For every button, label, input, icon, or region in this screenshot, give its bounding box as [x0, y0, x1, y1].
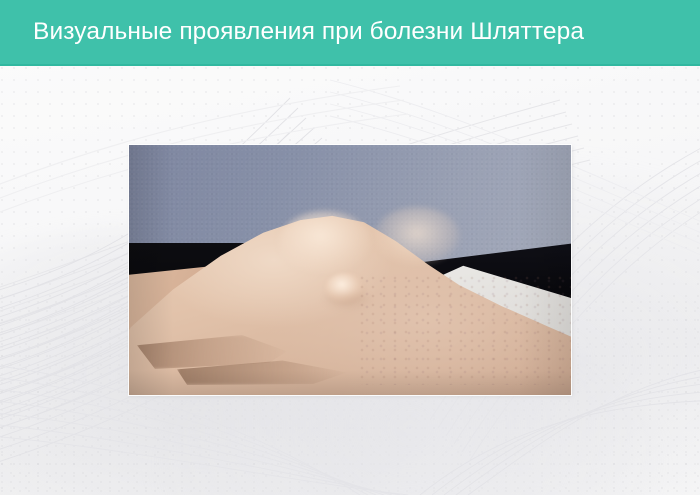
- clinical-photo-frame: [129, 145, 571, 395]
- page-title: Визуальные проявления при болезни Шлятте…: [0, 19, 584, 46]
- clinical-photo-knee: [129, 145, 571, 395]
- presentation-slide: Визуальные проявления при болезни Шлятте…: [0, 0, 700, 495]
- slide-header: Визуальные проявления при болезни Шлятте…: [0, 0, 700, 66]
- photo-edge-vignette: [129, 145, 571, 395]
